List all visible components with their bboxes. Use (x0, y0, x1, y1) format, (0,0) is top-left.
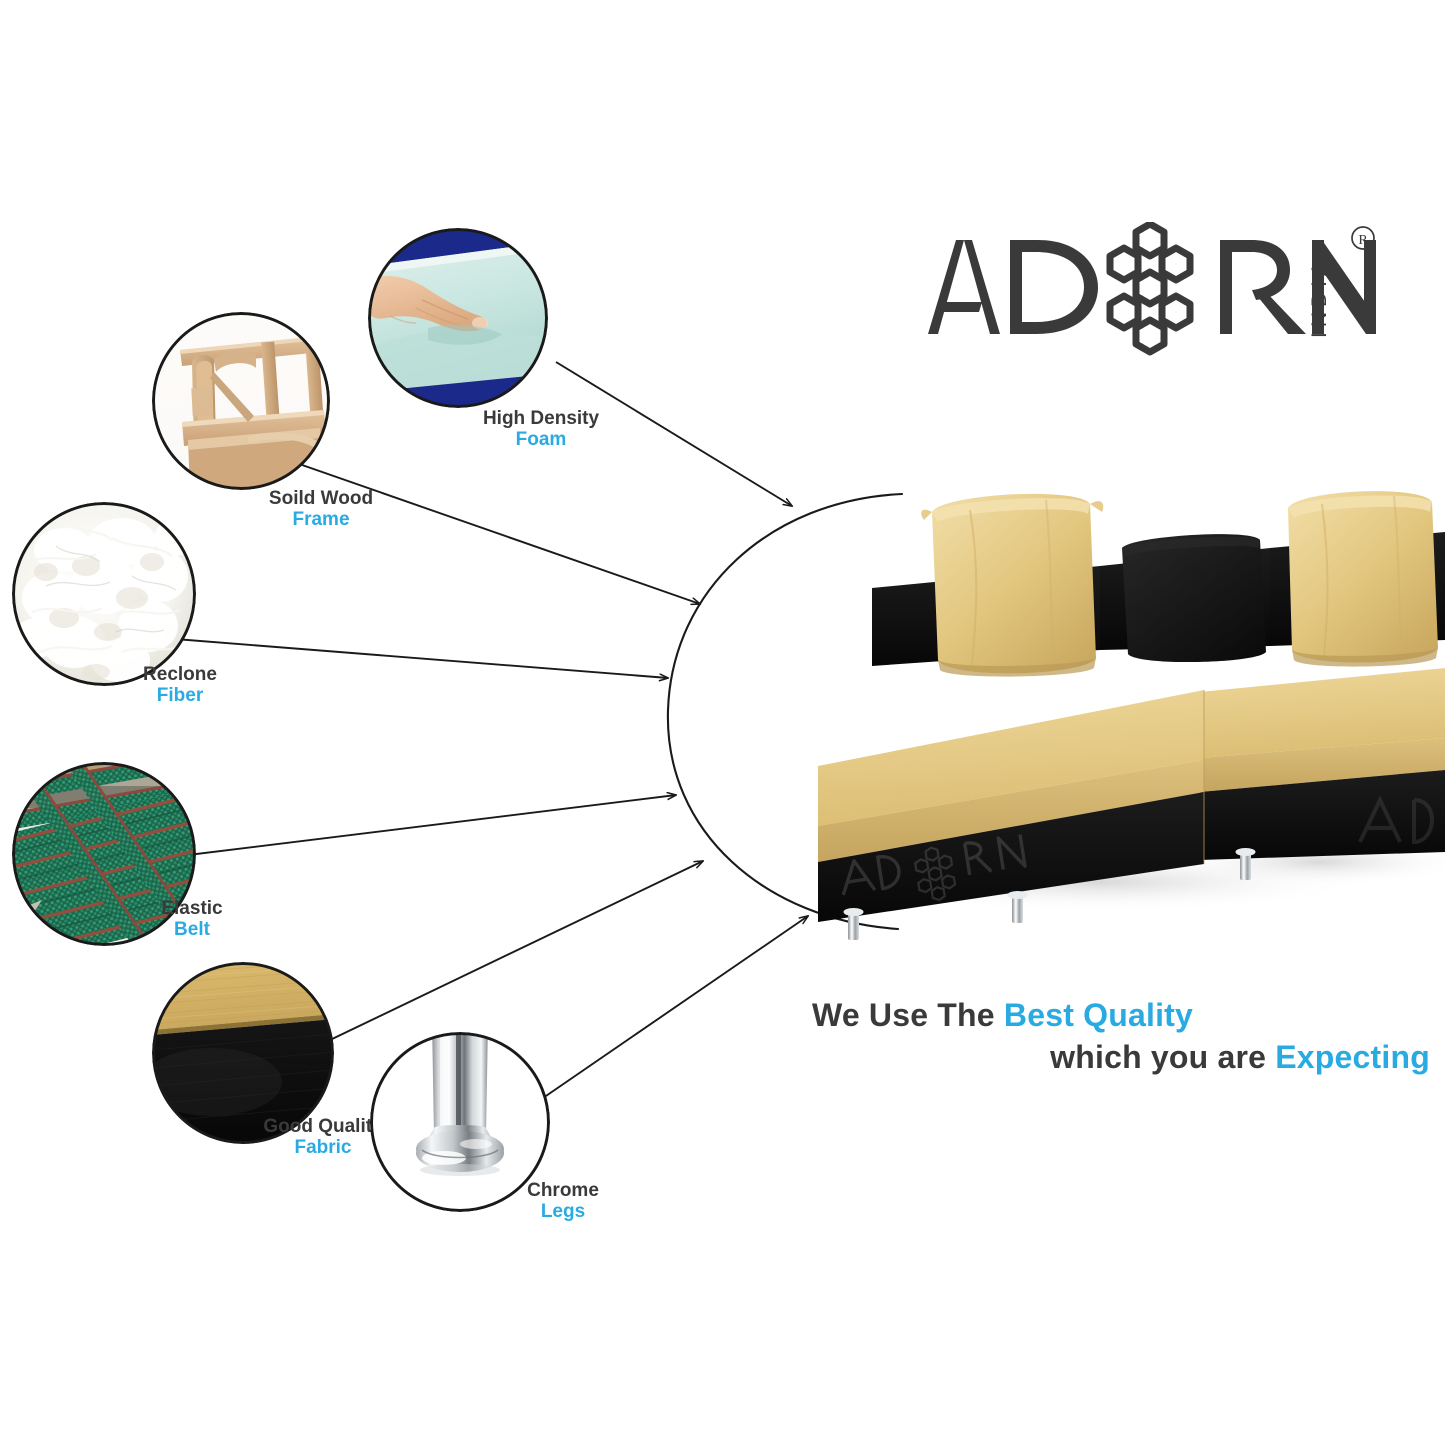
arrow-chrome-legs (543, 916, 808, 1098)
tagline-row1-plain: We Use The (812, 997, 1004, 1033)
feature-circle-reclone-fiber[interactable] (12, 502, 196, 686)
tagline-row1: We Use The Best Quality (812, 994, 1432, 1036)
label-line1: High Density (436, 408, 646, 429)
label-line1: Soild Wood (216, 488, 426, 509)
registered-trademark-icon: R (1352, 227, 1374, 249)
label-reclone-fiber: Reclone Fiber (80, 664, 280, 707)
label-line2: Belt (92, 919, 292, 940)
label-chrome-legs: Chrome Legs (478, 1180, 648, 1223)
tagline: We Use The Best Quality which you are Ex… (812, 994, 1432, 1078)
label-line1: Elastic (92, 898, 292, 919)
brand-logo: INDIA R (920, 222, 1390, 362)
feature-circle-solid-wood-frame[interactable] (152, 312, 330, 490)
tagline-row1-accent: Best Quality (1004, 997, 1193, 1033)
fiber-fill-photo (12, 502, 196, 686)
label-line2: Frame (216, 509, 426, 530)
label-line2: Foam (436, 429, 646, 450)
tagline-row2: which you are Expecting (812, 1036, 1432, 1078)
svg-text:R: R (1358, 233, 1368, 248)
sofa-leg-front-left (844, 908, 864, 940)
back-pillow-black (1122, 534, 1266, 662)
label-line1: Reclone (80, 664, 280, 685)
infographic-canvas: Soild Wood Frame (0, 0, 1445, 1445)
foam-hand-photo (368, 228, 548, 408)
label-elastic-belt: Elastic Belt (92, 898, 292, 941)
label-high-density-foam: High Density Foam (436, 408, 646, 451)
tagline-row2-accent: Expecting (1275, 1039, 1430, 1075)
pillow-gold-left (921, 494, 1103, 677)
feature-circle-high-density-foam[interactable] (368, 228, 548, 408)
hexagon-cluster-icon (1110, 224, 1190, 352)
arrow-fabric (330, 861, 703, 1040)
product-sofa-image[interactable] (800, 470, 1445, 940)
label-line2: Legs (478, 1201, 648, 1222)
pillow-gold-right (1288, 491, 1438, 666)
label-solid-wood-frame: Soild Wood Frame (216, 488, 426, 531)
logo-country-text: INDIA (1308, 257, 1331, 338)
wood-frame-photo (152, 312, 330, 490)
label-line1: Chrome (478, 1180, 648, 1201)
arrow-elastic-belt (180, 795, 676, 856)
tagline-row2-plain: which you are (1050, 1039, 1275, 1075)
label-line2: Fiber (80, 685, 280, 706)
